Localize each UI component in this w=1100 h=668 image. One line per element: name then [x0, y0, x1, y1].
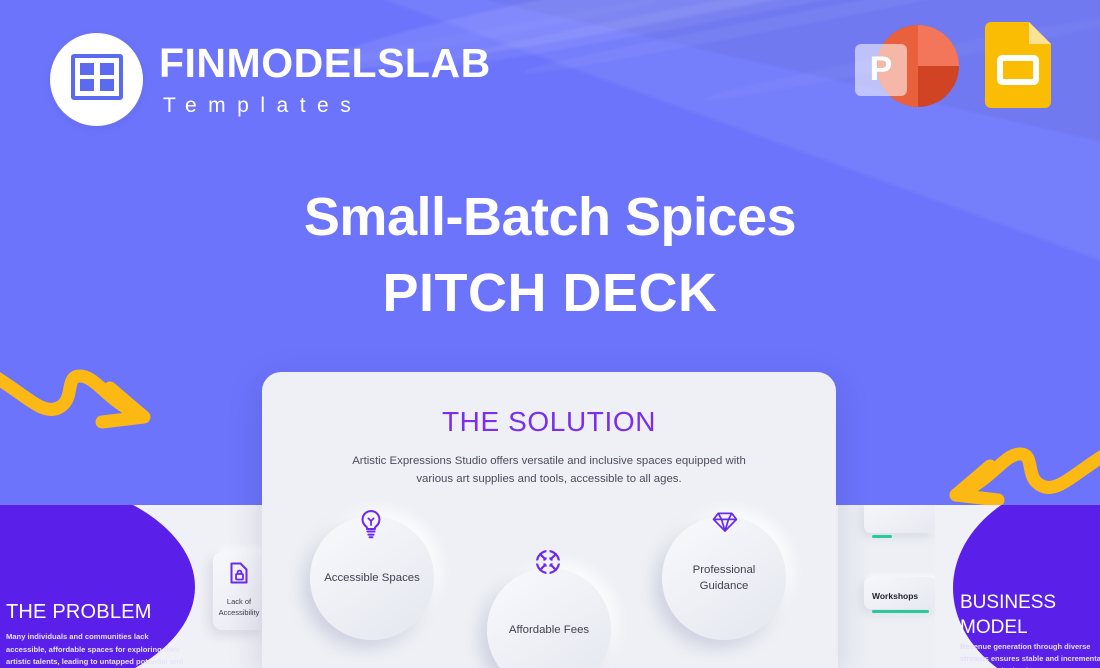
solution-title: THE SOLUTION — [262, 406, 836, 438]
workshops-card-top — [864, 505, 936, 533]
brand-logo[interactable]: FINMODELSLAB Templates — [50, 33, 491, 126]
brand-name: FINMODELSLAB — [159, 43, 491, 84]
hero-title-line-1: Small-Batch Spices — [0, 188, 1100, 246]
slide-business-model[interactable]: BUSINESS MODEL Revenue generation throug… — [935, 505, 1100, 668]
solution-item-affordable-fees[interactable]: Affordable Fees — [487, 568, 611, 668]
google-slides-icon[interactable] — [981, 22, 1055, 114]
solution-item-label-2: Affordable Fees — [499, 622, 599, 638]
slide-divider — [836, 505, 838, 668]
squiggly-arrow-right-icon — [0, 346, 172, 441]
solution-item-label-1: Accessible Spaces — [314, 570, 430, 586]
workshops-bar-top — [872, 535, 892, 538]
powerpoint-icon[interactable]: P — [855, 22, 959, 114]
problem-chip-lack-of-accessibility[interactable]: Lack of Accessibility — [213, 552, 265, 630]
diamond-icon — [712, 509, 738, 535]
problem-body-text: Many individuals and communities lack ac… — [6, 631, 186, 668]
problem-chip-label: Lack of Accessibility — [213, 597, 265, 619]
brand-tagline: Templates — [163, 95, 491, 116]
business-title: BUSINESS MODEL — [960, 591, 1090, 640]
slide-preview-stage: FINMODELSLAB Templates P Small-Batch Spi… — [0, 0, 1100, 668]
hero-title: Small-Batch Spices PITCH DECK — [0, 188, 1100, 328]
workshops-bar-bottom — [872, 610, 929, 613]
locked-document-icon — [229, 561, 249, 590]
workshops-label: Workshops — [872, 591, 918, 601]
lightbulb-icon — [358, 509, 384, 535]
powerpoint-letter-tile: P — [855, 44, 907, 96]
logo-circle — [50, 33, 143, 126]
solution-subtitle: Artistic Expressions Studio offers versa… — [344, 452, 754, 489]
hero-title-line-2: PITCH DECK — [0, 260, 1100, 328]
solution-item-label-3: Professional Guidance — [662, 562, 786, 594]
format-icons-group: P — [855, 22, 1055, 114]
powerpoint-letter: P — [870, 52, 893, 86]
slide-the-solution[interactable]: THE SOLUTION Artistic Expressions Studio… — [262, 372, 836, 668]
slide-workshops[interactable]: Workshops — [836, 505, 936, 668]
business-body-text: Revenue generation through diverse strea… — [960, 641, 1100, 668]
logo-wordmark: FINMODELSLAB Templates — [159, 43, 491, 116]
problem-title: THE PROBLEM — [6, 601, 152, 624]
donut-target-icon — [535, 549, 561, 575]
grid-icon — [71, 54, 123, 105]
